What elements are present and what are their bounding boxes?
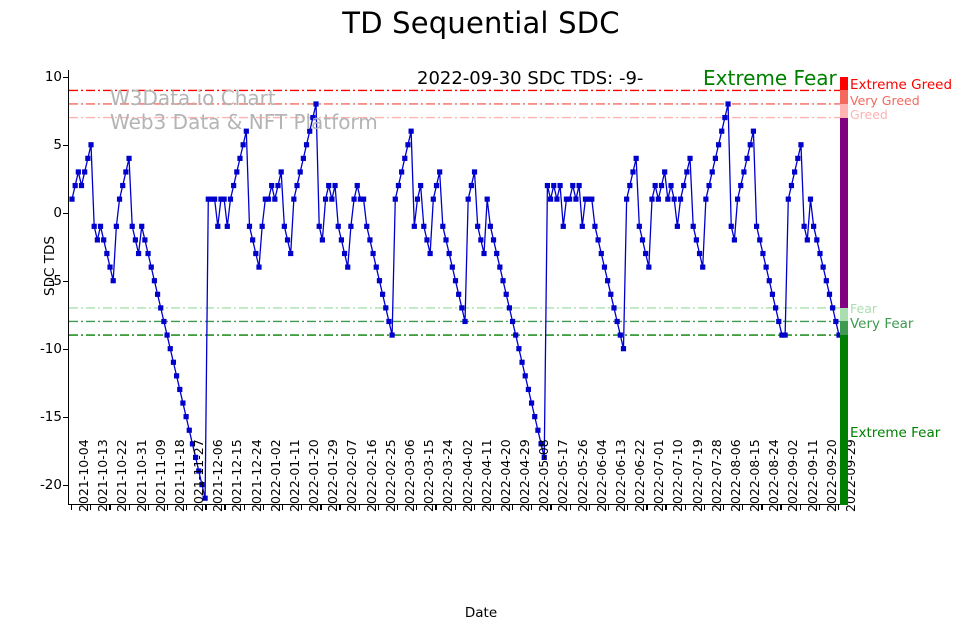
data-point-marker — [608, 292, 613, 297]
data-point-marker — [694, 237, 699, 242]
data-point-marker — [405, 142, 410, 147]
data-point-marker — [817, 251, 822, 256]
colorbar-segment — [840, 321, 848, 335]
data-point-marker — [580, 224, 585, 229]
x-tick-label: 2022-09-11 — [805, 439, 820, 512]
x-axis-label: Date — [0, 605, 962, 621]
data-point-marker — [710, 169, 715, 174]
data-point-marker — [551, 183, 556, 188]
data-point-marker — [773, 305, 778, 310]
data-point-marker — [136, 251, 141, 256]
data-point-marker — [611, 305, 616, 310]
data-point-marker — [519, 360, 524, 365]
x-tick-label: 2022-03-24 — [440, 439, 455, 512]
data-point-marker — [88, 142, 93, 147]
data-point-marker — [390, 332, 395, 337]
data-point-marker — [700, 265, 705, 270]
x-tick-label: 2022-06-13 — [613, 439, 628, 512]
x-tick-label: 2022-05-08 — [536, 439, 551, 512]
data-point-marker — [73, 183, 78, 188]
x-tick-label: 2022-07-10 — [670, 439, 685, 512]
data-point-marker — [310, 115, 315, 120]
data-point-marker — [111, 278, 116, 283]
data-point-marker — [323, 197, 328, 202]
data-point-marker — [741, 169, 746, 174]
data-point-marker — [288, 251, 293, 256]
x-tick-label: 2022-01-20 — [306, 439, 321, 512]
x-tick-label: 2022-07-19 — [690, 439, 705, 512]
data-point-marker — [497, 265, 502, 270]
data-point-marker — [475, 224, 480, 229]
threshold-label: Greed — [850, 107, 888, 122]
data-point-marker — [279, 169, 284, 174]
data-point-marker — [291, 197, 296, 202]
data-point-marker — [507, 305, 512, 310]
threshold-label: Very Fear — [850, 316, 913, 332]
data-point-marker — [719, 129, 724, 134]
x-tick-label: 2022-03-15 — [421, 439, 436, 512]
colorbar-segment — [840, 90, 848, 104]
data-point-marker — [133, 237, 138, 242]
data-point-marker — [529, 400, 534, 405]
data-point-marker — [634, 156, 639, 161]
x-tick-label: 2022-05-17 — [555, 439, 570, 512]
data-point-marker — [596, 237, 601, 242]
data-point-marker — [212, 197, 217, 202]
data-point-marker — [827, 292, 832, 297]
data-point-marker — [523, 373, 528, 378]
data-point-marker — [266, 197, 271, 202]
data-point-marker — [180, 400, 185, 405]
data-point-marker — [364, 224, 369, 229]
data-point-marker — [735, 197, 740, 202]
data-point-marker — [732, 237, 737, 242]
data-point-marker — [589, 197, 594, 202]
data-point-marker — [107, 265, 112, 270]
data-point-marker — [713, 156, 718, 161]
data-point-marker — [722, 115, 727, 120]
x-tick-label: 2022-09-20 — [824, 439, 839, 512]
data-point-marker — [82, 169, 87, 174]
data-point-marker — [250, 237, 255, 242]
data-point-marker — [377, 278, 382, 283]
colorbar-segment — [840, 308, 848, 322]
data-point-marker — [393, 197, 398, 202]
x-tick-label: 2021-11-18 — [172, 439, 187, 512]
x-tick-label: 2021-12-24 — [249, 439, 264, 512]
data-point-marker — [472, 169, 477, 174]
data-point-marker — [466, 197, 471, 202]
data-point-marker — [462, 319, 467, 324]
x-tick-label: 2022-06-22 — [632, 439, 647, 512]
colorbar-segment — [840, 77, 848, 91]
data-point-marker — [706, 183, 711, 188]
data-point-marker — [222, 197, 227, 202]
data-point-marker — [751, 129, 756, 134]
data-point-marker — [253, 251, 258, 256]
data-point-marker — [481, 251, 486, 256]
data-point-marker — [301, 156, 306, 161]
data-point-marker — [573, 197, 578, 202]
data-point-marker — [123, 169, 128, 174]
data-point-marker — [760, 251, 765, 256]
data-point-marker — [95, 237, 100, 242]
x-tick-label: 2022-07-01 — [651, 439, 666, 512]
data-point-marker — [802, 224, 807, 229]
data-point-marker — [307, 129, 312, 134]
data-point-marker — [152, 278, 157, 283]
data-point-marker — [374, 265, 379, 270]
data-point-marker — [754, 224, 759, 229]
current-status-annotation: Extreme Fear — [703, 66, 837, 90]
data-point-marker — [748, 142, 753, 147]
data-point-marker — [351, 197, 356, 202]
data-point-marker — [567, 197, 572, 202]
data-point-marker — [795, 156, 800, 161]
data-point-marker — [764, 265, 769, 270]
data-point-marker — [561, 224, 566, 229]
data-point-marker — [76, 169, 81, 174]
x-tick-label: 2022-01-11 — [287, 439, 302, 512]
data-point-marker — [92, 224, 97, 229]
data-point-marker — [535, 428, 540, 433]
data-point-marker — [491, 237, 496, 242]
data-point-marker — [332, 183, 337, 188]
data-point-marker — [412, 224, 417, 229]
data-point-marker — [396, 183, 401, 188]
data-point-marker — [155, 292, 160, 297]
data-point-marker — [738, 183, 743, 188]
x-tick-label: 2022-08-24 — [766, 439, 781, 512]
x-tick-label: 2022-01-29 — [325, 439, 340, 512]
data-point-marker — [602, 265, 607, 270]
data-point-marker — [440, 224, 445, 229]
data-point-marker — [336, 224, 341, 229]
data-point-marker — [653, 183, 658, 188]
threshold-label: Extreme Fear — [850, 425, 940, 441]
data-point-marker — [237, 156, 242, 161]
data-point-marker — [443, 237, 448, 242]
data-point-marker — [171, 360, 176, 365]
data-point-marker — [164, 332, 169, 337]
data-point-marker — [668, 183, 673, 188]
data-point-marker — [450, 265, 455, 270]
data-point-marker — [805, 237, 810, 242]
data-point-marker — [821, 265, 826, 270]
data-point-marker — [329, 197, 334, 202]
data-point-marker — [339, 237, 344, 242]
x-tick-label: 2022-08-06 — [728, 439, 743, 512]
data-point-marker — [516, 346, 521, 351]
data-point-marker — [415, 197, 420, 202]
x-tick-label: 2021-11-09 — [153, 439, 168, 512]
data-point-marker — [402, 156, 407, 161]
data-point-marker — [783, 332, 788, 337]
data-point-marker — [355, 183, 360, 188]
data-point-marker — [437, 169, 442, 174]
data-point-marker — [665, 197, 670, 202]
x-tick-label: 2022-09-02 — [785, 439, 800, 512]
data-point-marker — [158, 305, 163, 310]
x-tick-label: 2021-10-31 — [134, 439, 149, 512]
data-point-marker — [231, 183, 236, 188]
data-point-marker — [557, 183, 562, 188]
data-point-marker — [342, 251, 347, 256]
x-tick-label: 2022-02-25 — [383, 439, 398, 512]
data-point-marker — [678, 197, 683, 202]
data-point-marker — [656, 197, 661, 202]
data-point-marker — [247, 224, 252, 229]
data-point-marker — [183, 414, 188, 419]
x-tick-label: 2021-10-22 — [114, 439, 129, 512]
data-point-marker — [662, 169, 667, 174]
x-tick-label: 2021-11-27 — [191, 439, 206, 512]
data-point-marker — [577, 183, 582, 188]
x-tick-label: 2022-01-02 — [268, 439, 283, 512]
data-point-marker — [272, 197, 277, 202]
data-point-marker — [684, 169, 689, 174]
data-point-marker — [168, 346, 173, 351]
data-point-marker — [409, 129, 414, 134]
data-point-marker — [348, 224, 353, 229]
data-point-marker — [830, 305, 835, 310]
data-point-marker — [618, 332, 623, 337]
data-point-marker — [142, 237, 147, 242]
chart-title: TD Sequential SDC — [0, 6, 962, 40]
current-value-annotation: 2022-09-30 SDC TDS: -9- — [417, 68, 643, 89]
data-point-marker — [548, 197, 553, 202]
data-point-marker — [716, 142, 721, 147]
data-point-marker — [510, 319, 515, 324]
data-point-marker — [370, 251, 375, 256]
data-point-marker — [69, 197, 74, 202]
data-point-marker — [361, 197, 366, 202]
data-point-marker — [177, 387, 182, 392]
data-point-marker — [786, 197, 791, 202]
data-point-marker — [599, 251, 604, 256]
data-point-marker — [418, 183, 423, 188]
data-point-marker — [615, 319, 620, 324]
data-point-marker — [814, 237, 819, 242]
data-point-marker — [703, 197, 708, 202]
threshold-label: Extreme Greed — [850, 77, 952, 93]
data-point-marker — [649, 197, 654, 202]
data-point-marker — [532, 414, 537, 419]
data-point-marker — [320, 237, 325, 242]
data-point-marker — [447, 251, 452, 256]
data-point-marker — [117, 197, 122, 202]
data-point-marker — [424, 237, 429, 242]
x-tick-label: 2021-10-13 — [95, 439, 110, 512]
y-tick-marks — [0, 70, 70, 505]
data-point-marker — [304, 142, 309, 147]
x-tick-label: 2022-03-06 — [402, 439, 417, 512]
data-point-marker — [630, 169, 635, 174]
data-point-marker — [453, 278, 458, 283]
data-point-marker — [225, 224, 230, 229]
data-point-marker — [500, 278, 505, 283]
data-point-marker — [383, 305, 388, 310]
data-point-marker — [241, 142, 246, 147]
x-tick-label: 2022-05-26 — [575, 439, 590, 512]
data-point-marker — [640, 237, 645, 242]
data-point-marker — [234, 169, 239, 174]
x-tick-label: 2022-08-15 — [747, 439, 762, 512]
data-point-marker — [757, 237, 762, 242]
data-point-marker — [725, 101, 730, 106]
data-point-marker — [114, 224, 119, 229]
data-point-marker — [833, 319, 838, 324]
data-point-marker — [621, 346, 626, 351]
data-point-marker — [275, 183, 280, 188]
data-point-marker — [399, 169, 404, 174]
data-point-marker — [526, 387, 531, 392]
data-point-marker — [431, 197, 436, 202]
data-point-marker — [434, 183, 439, 188]
data-point-marker — [228, 197, 233, 202]
data-point-marker — [421, 224, 426, 229]
data-point-marker — [494, 251, 499, 256]
y-axis-label: SDC TDS — [42, 206, 58, 326]
data-point-marker — [260, 224, 265, 229]
threshold-label: Fear — [850, 301, 877, 316]
data-point-marker — [130, 224, 135, 229]
data-point-marker — [101, 237, 106, 242]
x-tick-label: 2022-04-11 — [479, 439, 494, 512]
x-tick-label: 2022-04-20 — [498, 439, 513, 512]
data-point-marker — [637, 224, 642, 229]
x-tick-label: 2021-10-04 — [76, 439, 91, 512]
data-point-marker — [386, 319, 391, 324]
data-point-marker — [244, 129, 249, 134]
data-point-marker — [187, 428, 192, 433]
data-point-marker — [98, 224, 103, 229]
data-point-marker — [554, 197, 559, 202]
colorbar-segment — [840, 335, 848, 505]
data-point-marker — [282, 224, 287, 229]
x-tick-label: 2022-04-02 — [460, 439, 475, 512]
data-point-marker — [767, 278, 772, 283]
data-point-marker — [627, 183, 632, 188]
data-point-marker — [513, 332, 518, 337]
data-point-marker — [798, 142, 803, 147]
x-tick-label: 2022-02-07 — [344, 439, 359, 512]
data-point-marker — [456, 292, 461, 297]
data-point-marker — [570, 183, 575, 188]
data-point-marker — [672, 197, 677, 202]
x-tick-mark — [71, 505, 72, 510]
data-point-marker — [691, 224, 696, 229]
x-tick-label: 2022-07-28 — [709, 439, 724, 512]
data-point-marker — [345, 265, 350, 270]
x-tick-label: 2022-04-29 — [517, 439, 532, 512]
data-point-marker — [161, 319, 166, 324]
x-tick-label: 2022-02-16 — [364, 439, 379, 512]
data-point-marker — [776, 319, 781, 324]
data-point-marker — [729, 224, 734, 229]
data-point-marker — [317, 224, 322, 229]
data-point-marker — [624, 197, 629, 202]
data-point-marker — [459, 305, 464, 310]
data-point-marker — [285, 237, 290, 242]
data-point-marker — [298, 169, 303, 174]
data-point-marker — [149, 265, 154, 270]
colorbar-segment — [840, 118, 848, 308]
data-point-marker — [744, 156, 749, 161]
data-point-marker — [789, 183, 794, 188]
data-point-marker — [126, 156, 131, 161]
data-point-marker — [643, 251, 648, 256]
x-tick-label: 2021-12-06 — [210, 439, 225, 512]
data-point-marker — [269, 183, 274, 188]
data-point-marker — [697, 251, 702, 256]
data-point-marker — [104, 251, 109, 256]
data-point-marker — [428, 251, 433, 256]
data-point-marker — [824, 278, 829, 283]
data-point-marker — [326, 183, 331, 188]
data-point-marker — [485, 197, 490, 202]
x-tick-label: 2021-12-15 — [229, 439, 244, 512]
data-point-marker — [380, 292, 385, 297]
data-point-marker — [294, 183, 299, 188]
data-point-marker — [808, 197, 813, 202]
data-point-marker — [770, 292, 775, 297]
colorbar-segment — [840, 104, 848, 118]
data-point-marker — [79, 183, 84, 188]
data-point-marker — [545, 183, 550, 188]
data-point-marker — [85, 156, 90, 161]
data-point-marker — [687, 156, 692, 161]
x-tick-label: 2022-06-04 — [594, 439, 609, 512]
data-point-marker — [139, 224, 144, 229]
x-tick-labels: 2021-10-042021-10-132021-10-222021-10-31… — [68, 512, 843, 602]
data-point-marker — [592, 224, 597, 229]
data-point-marker — [478, 237, 483, 242]
data-point-marker — [646, 265, 651, 270]
data-point-marker — [469, 183, 474, 188]
data-point-marker — [675, 224, 680, 229]
data-point-marker — [174, 373, 179, 378]
data-point-marker — [504, 292, 509, 297]
data-point-marker — [256, 265, 261, 270]
data-point-marker — [659, 183, 664, 188]
sentiment-colorbar — [840, 70, 848, 505]
data-point-marker — [367, 237, 372, 242]
data-point-marker — [681, 183, 686, 188]
data-point-marker — [488, 224, 493, 229]
data-point-marker — [120, 183, 125, 188]
data-point-marker — [145, 251, 150, 256]
data-point-marker — [792, 169, 797, 174]
data-point-marker — [605, 278, 610, 283]
data-point-marker — [215, 224, 220, 229]
data-point-marker — [811, 224, 816, 229]
data-point-marker — [313, 101, 318, 106]
chart-canvas: TD Sequential SDC 1050-5-10-15-20 SDC TD… — [0, 0, 962, 633]
